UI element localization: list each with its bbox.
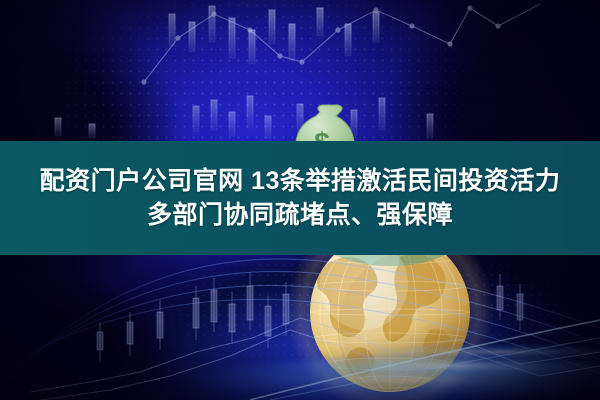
headline-band: 配资门户公司官网 13条举措激活民间投资活力 多部门协同疏堵点、强保障 — [0, 141, 600, 255]
banner-image: $ $ — [0, 0, 600, 400]
headline-line-1: 配资门户公司官网 13条举措激活民间投资活力 — [40, 164, 561, 198]
headline-line-2: 多部门协同疏堵点、强保障 — [147, 198, 453, 232]
